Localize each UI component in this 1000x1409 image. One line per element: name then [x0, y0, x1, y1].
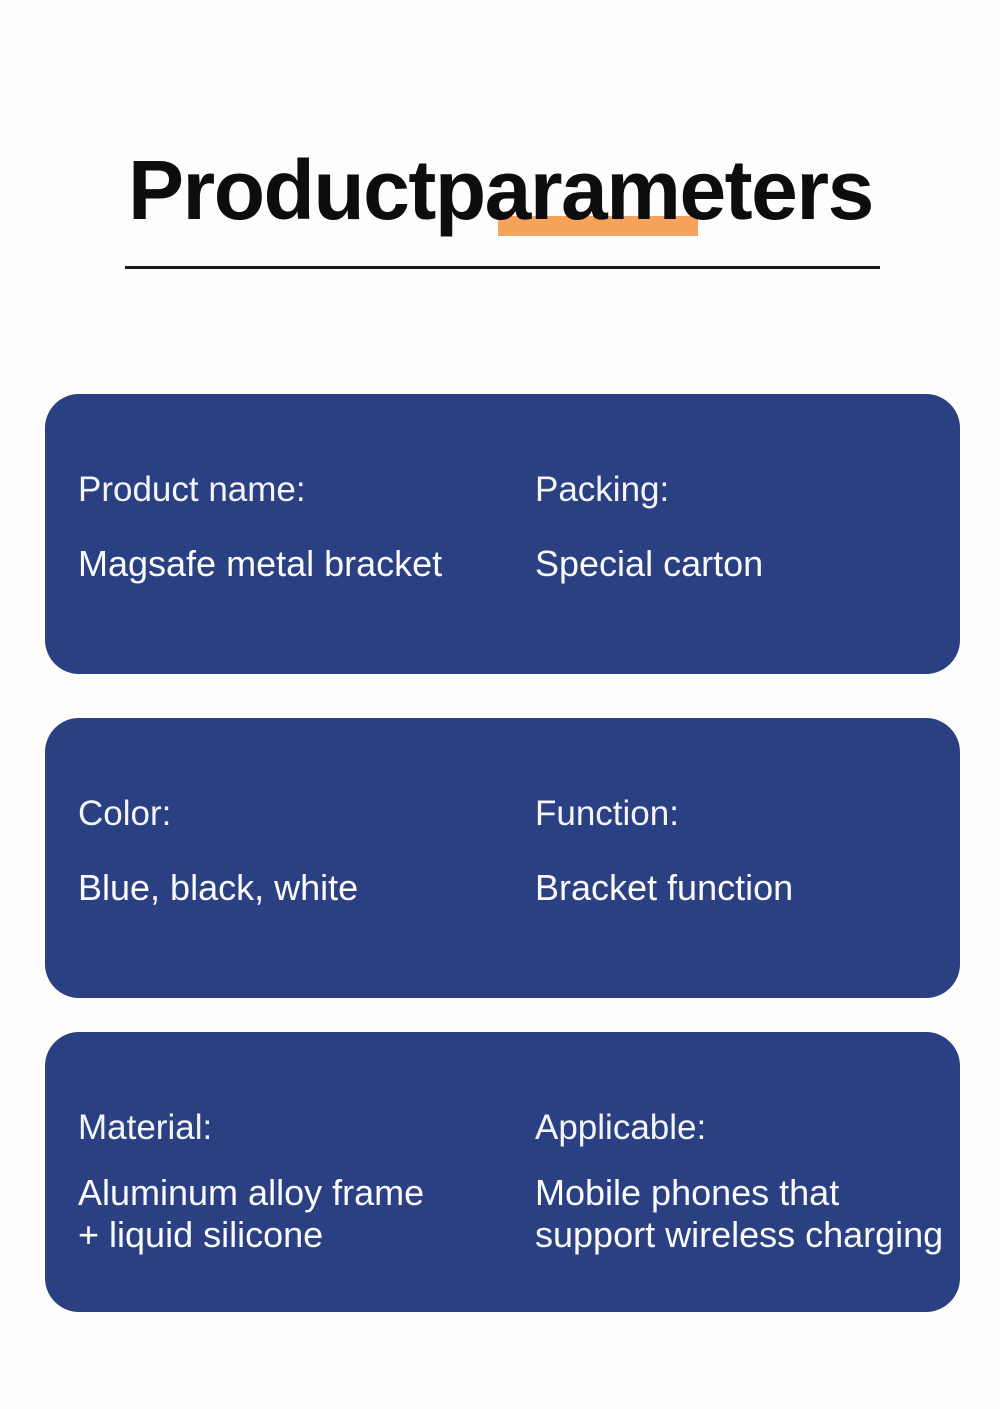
spec-value: Bracket function [535, 866, 793, 910]
spec-card: Product name: Magsafe metal bracket Pack… [45, 394, 960, 674]
product-parameters-page: Product parameters Product name: Magsafe… [0, 0, 1000, 1409]
spec-label: Applicable: [535, 1106, 706, 1150]
spec-value: Special carton [535, 542, 763, 586]
spec-value: Magsafe metal bracket [78, 542, 442, 586]
spec-entry: Color: Blue, black, white [78, 718, 538, 998]
page-title-part-one: Product [128, 144, 435, 236]
spec-label: Product name: [78, 468, 306, 512]
spec-entry: Applicable: Mobile phones that support w… [535, 1032, 955, 1312]
spec-entry: Function: Bracket function [535, 718, 955, 998]
spec-card: Material: Aluminum alloy frame + liquid … [45, 1032, 960, 1312]
page-header: Product parameters [0, 0, 1000, 300]
spec-label: Material: [78, 1106, 212, 1150]
page-title-part-two: parameters [435, 144, 873, 236]
spec-label: Packing: [535, 468, 669, 512]
spec-value: Aluminum alloy frame + liquid silicone [78, 1172, 424, 1256]
spec-card: Color: Blue, black, white Function: Brac… [45, 718, 960, 998]
spec-value: Mobile phones that support wireless char… [535, 1172, 943, 1256]
spec-entry: Packing: Special carton [535, 394, 955, 674]
title-divider-rule [125, 266, 880, 269]
spec-value: Blue, black, white [78, 866, 358, 910]
spec-entry: Material: Aluminum alloy frame + liquid … [78, 1032, 538, 1312]
page-title: Product parameters [128, 144, 873, 236]
spec-label: Function: [535, 792, 679, 836]
spec-label: Color: [78, 792, 171, 836]
spec-entry: Product name: Magsafe metal bracket [78, 394, 538, 674]
